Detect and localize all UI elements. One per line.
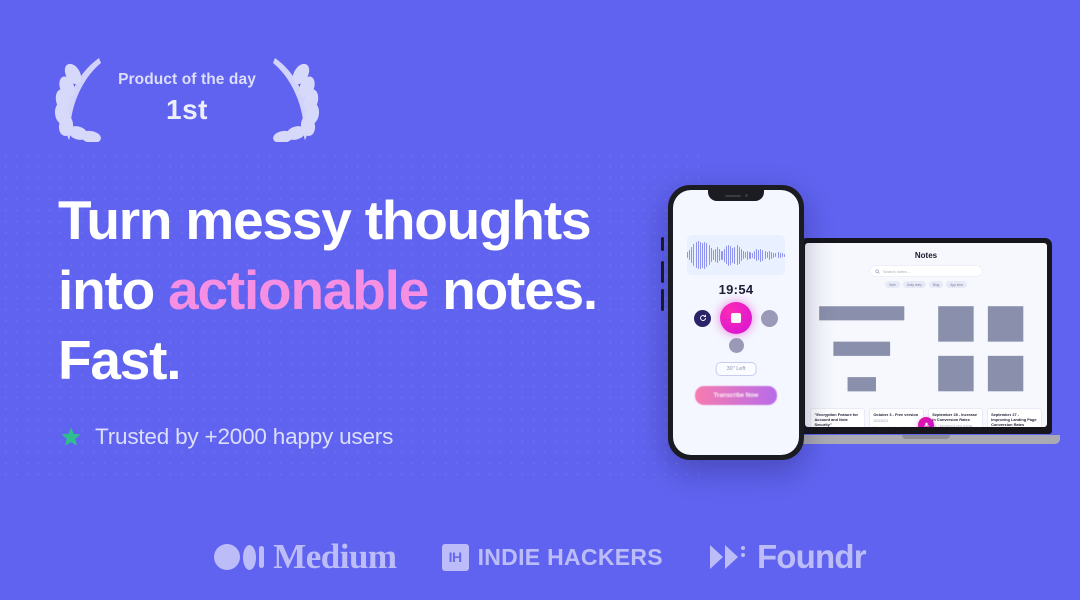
phone-screen: 19:54 30" Left Transcribe Now — [673, 190, 799, 455]
stop-square-icon — [731, 313, 741, 323]
phone-volume-down-button — [661, 289, 664, 311]
laurel-right-icon — [260, 54, 322, 142]
note-title: September 27 - Improving Landing Page Co… — [991, 412, 1037, 428]
phone-mockup: 19:54 30" Left Transcribe Now — [668, 185, 804, 460]
product-of-the-day-badge: Product of the day 1st — [52, 52, 322, 144]
note-subtitle: 10/3/2023 — [873, 419, 919, 423]
search-icon — [875, 269, 880, 274]
indie-hackers-mark-icon: IH — [442, 544, 469, 571]
logo-medium: Medium — [214, 537, 396, 577]
pause-button[interactable] — [761, 310, 778, 327]
recording-controls — [673, 302, 799, 334]
restart-glyph-icon — [699, 314, 707, 322]
notes-app-title: Notes — [805, 251, 1047, 260]
audio-waveform — [687, 235, 785, 275]
trust-badge: Trusted by +2000 happy users — [60, 424, 393, 450]
note-card[interactable]: October 3 - Free version 10/3/2023 Wow, … — [869, 408, 924, 428]
phone-volume-up-button — [661, 261, 664, 283]
note-card[interactable]: "Encryption Feature for Account and Note… — [810, 408, 865, 428]
laptop-screen-bezel: Notes Search notes... Note Daily entry B… — [800, 238, 1052, 434]
recording-timer: 19:54 — [673, 282, 799, 297]
trust-label: Trusted by +2000 happy users — [95, 424, 393, 450]
notes-search-input[interactable]: Search notes... — [870, 266, 982, 276]
laurel-left-icon — [52, 54, 114, 142]
notes-search-placeholder: Search notes... — [883, 269, 910, 274]
laptop-mockup: Notes Search notes... Note Daily entry B… — [800, 238, 1052, 444]
notes-filter-chips: Note Daily entry Blog App idea — [805, 281, 1047, 288]
microphone-icon — [923, 422, 930, 428]
phone-mute-button — [661, 237, 664, 251]
headline-line-1: Turn messy thoughts — [58, 189, 590, 251]
headline-line-3: Fast. — [58, 329, 180, 391]
restart-icon[interactable] — [694, 310, 711, 327]
notes-app-window: Notes Search notes... Note Daily entry B… — [805, 243, 1047, 427]
sort-icon[interactable] — [805, 292, 919, 406]
hero-stage: Product of the day 1st Turn messy though… — [0, 0, 1080, 600]
logo-medium-label: Medium — [273, 537, 396, 577]
page-title: Turn messy thoughts into actionable note… — [58, 185, 668, 395]
headline-line-2-before: into — [58, 259, 168, 321]
note-card[interactable]: September 27 - Improving Landing Page Co… — [987, 408, 1042, 428]
laptop-base — [792, 435, 1060, 444]
filter-chip[interactable]: Note — [885, 281, 900, 288]
note-card[interactable]: September 28 - Increase in Conversion Ra… — [928, 408, 983, 428]
grid-icon[interactable] — [924, 292, 1038, 406]
time-left-pill: 30" Left — [716, 362, 757, 376]
phone-notch — [708, 190, 764, 201]
record-fab-button[interactable] — [918, 417, 934, 427]
stop-record-button[interactable] — [720, 302, 752, 334]
badge-title: Product of the day — [118, 71, 256, 89]
star-icon — [60, 426, 82, 448]
note-title: "Encryption Feature for Account and Note… — [815, 412, 861, 428]
filter-chip[interactable]: App idea — [946, 281, 967, 288]
circle-icon[interactable] — [729, 338, 744, 353]
social-proof-logos: Medium IH INDIE HACKERS Foundr — [0, 528, 1080, 586]
logo-indie-hackers: IH INDIE HACKERS — [442, 544, 663, 571]
logo-foundr: Foundr — [708, 538, 866, 576]
notes-toolbar — [805, 288, 1047, 406]
note-body: Wow, I ain't believed it's already Octob… — [873, 426, 919, 427]
headline-line-2-after: notes. — [428, 259, 597, 321]
transcribe-button[interactable]: Transcribe Now — [695, 386, 777, 405]
medium-mark-icon — [214, 544, 264, 570]
filter-chip[interactable]: Blog — [929, 281, 943, 288]
note-body: So, I launched a new pricing page a coup… — [932, 424, 978, 427]
note-title: October 3 - Free version — [873, 412, 919, 417]
foundr-chevron-icon — [708, 542, 748, 572]
logo-indie-hackers-label: INDIE HACKERS — [478, 544, 663, 571]
filter-chip[interactable]: Daily entry — [903, 281, 926, 288]
headline-highlight: actionable — [168, 259, 428, 321]
extra-control-row — [673, 338, 799, 353]
badge-rank: 1st — [118, 94, 256, 126]
logo-foundr-label: Foundr — [757, 538, 866, 576]
note-title: September 28 - Increase in Conversion Ra… — [932, 412, 978, 422]
